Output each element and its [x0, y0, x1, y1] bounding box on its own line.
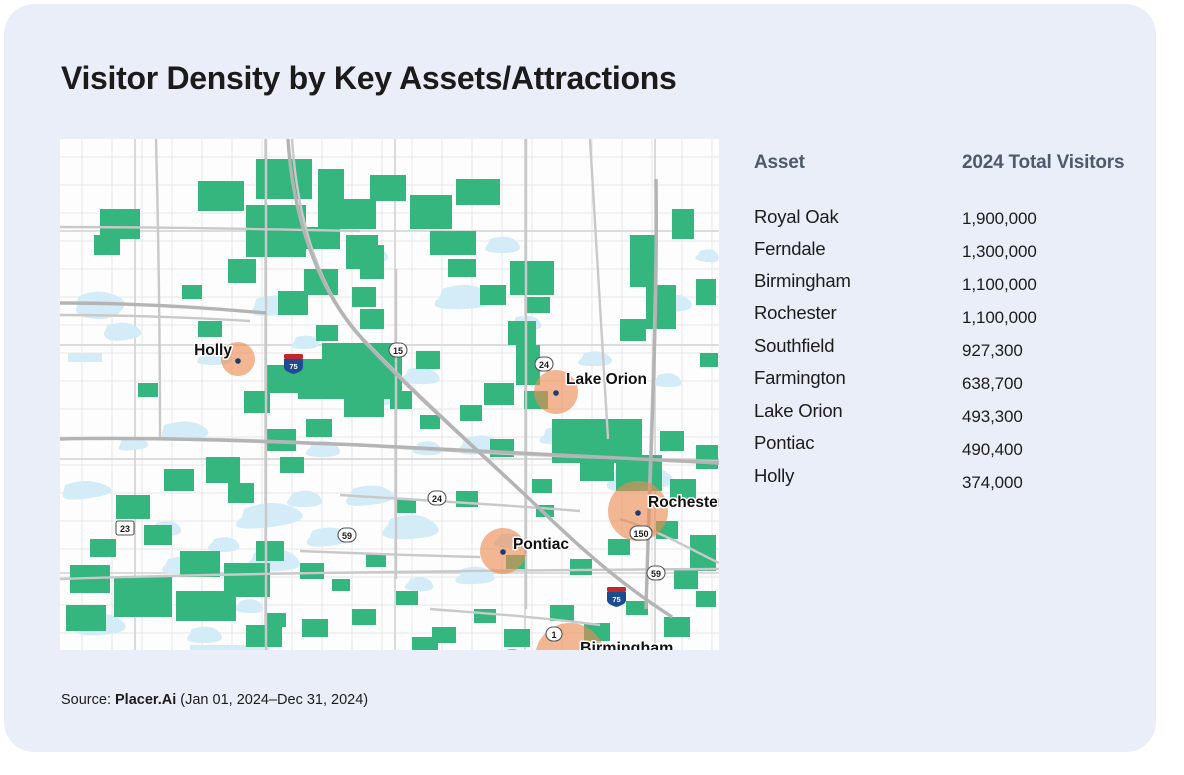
route-shield-1: 1	[546, 627, 562, 641]
svg-text:24: 24	[432, 494, 442, 504]
source-range: (Jan 01, 2024–Dec 31, 2024)	[176, 692, 368, 708]
route-shield-23: 23	[116, 521, 134, 535]
table-row: Ferndale	[754, 238, 825, 260]
table-cell-visitors: 927,300	[962, 341, 1023, 361]
table-body: Royal Oak 1,900,000 Ferndale 1,300,000 B…	[754, 206, 1154, 526]
table-cell-visitors: 490,400	[962, 440, 1023, 460]
map-label-holly: Holly	[194, 342, 232, 359]
source-provider: Placer.Ai	[115, 692, 176, 708]
table-cell-visitors: 1,900,000	[962, 209, 1037, 229]
table-row: Southfield	[754, 335, 834, 357]
svg-text:23: 23	[120, 524, 130, 534]
route-shield-59b: 59	[647, 566, 665, 580]
route-shield-59a: 59	[338, 528, 356, 542]
svg-text:75: 75	[612, 595, 620, 604]
page-title: Visitor Density by Key Assets/Attraction…	[61, 60, 676, 97]
column-header-asset: Asset	[754, 152, 805, 174]
route-shield-24a: 24	[535, 357, 553, 371]
column-header-visitors: 2024 Total Visitors	[962, 152, 1124, 174]
map-canvas[interactable]: Holly Lake Orion Rochester Pontiac Birmi…	[60, 139, 719, 650]
map-label-pontiac: Pontiac	[513, 536, 569, 553]
table-row: Pontiac	[754, 432, 814, 454]
source-prefix: Source:	[61, 692, 115, 708]
svg-text:1: 1	[551, 630, 556, 640]
report-card: Visitor Density by Key Assets/Attraction…	[4, 4, 1156, 752]
svg-text:15: 15	[393, 346, 403, 356]
table-cell-visitors: 1,100,000	[962, 308, 1037, 328]
route-shield-24b: 24	[428, 491, 446, 505]
table-row: Rochester	[754, 302, 837, 324]
route-shield-150: 150	[630, 526, 652, 540]
table-cell-visitors: 638,700	[962, 374, 1023, 394]
map-label-birmingham: Birmingham	[580, 640, 673, 650]
table-header-row: Asset 2024 Total Visitors	[754, 152, 1154, 188]
svg-text:24: 24	[539, 360, 549, 370]
visitor-table: Asset 2024 Total Visitors Royal Oak 1,90…	[754, 152, 1154, 526]
route-shield-15: 15	[389, 343, 407, 357]
table-cell-visitors: 493,300	[962, 407, 1023, 427]
table-row: Farmington	[754, 367, 846, 389]
table-cell-visitors: 1,100,000	[962, 275, 1037, 295]
svg-text:75: 75	[289, 362, 297, 371]
map-label-rochester: Rochester	[648, 494, 719, 511]
visitor-density-map[interactable]: Holly Lake Orion Rochester Pontiac Birmi…	[60, 139, 719, 650]
table-cell-visitors: 374,000	[962, 473, 1023, 493]
table-cell-visitors: 1,300,000	[962, 242, 1037, 262]
svg-text:150: 150	[633, 529, 648, 539]
interstate-shield-75-b: 75	[607, 587, 626, 607]
source-note: Source: Placer.Ai (Jan 01, 2024–Dec 31, …	[61, 692, 368, 708]
table-row: Royal Oak	[754, 206, 839, 228]
table-row: Lake Orion	[754, 400, 843, 422]
interstate-shield-75-a: 75	[284, 354, 303, 374]
map-label-lake-orion: Lake Orion	[566, 371, 647, 388]
table-row: Holly	[754, 465, 794, 487]
table-row: Birmingham	[754, 270, 851, 292]
svg-text:59: 59	[342, 531, 352, 541]
svg-text:59: 59	[651, 569, 661, 579]
